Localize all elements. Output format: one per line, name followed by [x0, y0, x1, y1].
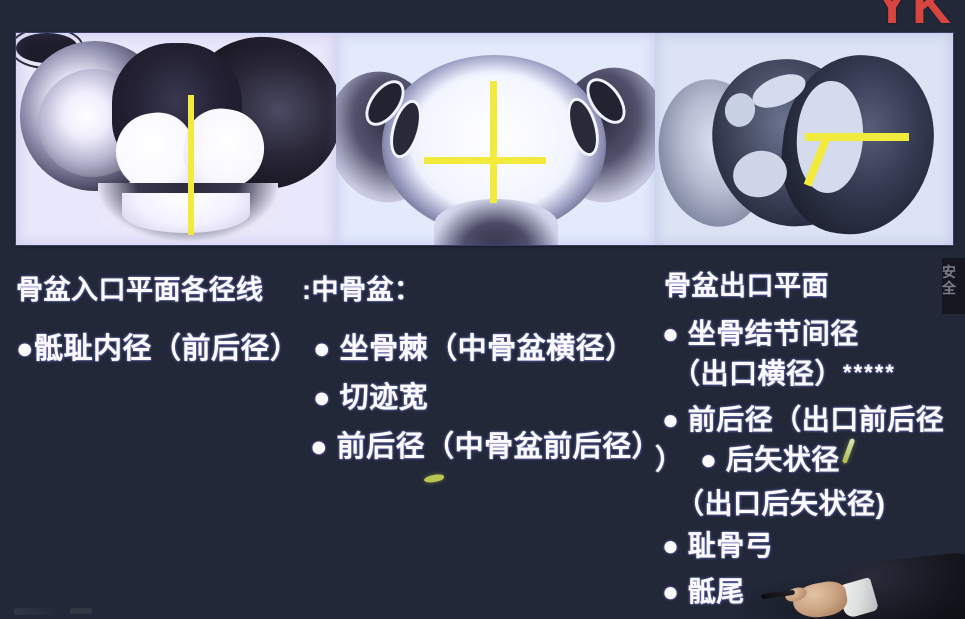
measure-line-transverse — [424, 157, 546, 164]
bottom-left-artifact-secondary — [70, 608, 92, 614]
outlet-item-posterior-sagittal-subtitle: （出口后矢状径) — [676, 482, 885, 522]
presenter-hand-with-pointer — [765, 559, 965, 619]
outlet-item-ap-diameter: ● 前后径（出口前后径 — [662, 398, 944, 438]
pelvic-inlet-radiograph — [16, 33, 336, 245]
outlet-transverse-label: （出口横径） — [672, 358, 843, 389]
outlet-item-intertuberous-diameter: ● 坐骨结节间径 — [662, 312, 859, 352]
midpelvis-item-notch-width: ● 切迹宽 — [313, 374, 428, 416]
slide-image-strip — [16, 33, 953, 245]
measure-line-anteroposterior — [188, 95, 194, 235]
pubic-symphysis — [434, 199, 558, 245]
pelvic-outlet-bones — [655, 33, 953, 245]
bottom-left-artifact — [14, 608, 60, 615]
midpelvis-item-ischial-spine: ● 坐骨棘（中骨盆横径） — [313, 325, 635, 367]
right-edge-overlay: 安全 — [942, 258, 965, 314]
outlet-column-heading: 骨盆出口平面 — [664, 264, 829, 303]
midpelvis-item-ap-diameter: ● 前后径（中骨盆前后径） — [310, 423, 661, 465]
outlet-item-posterior-sagittal: ● 后矢状径 — [700, 438, 840, 478]
channel-logo-watermark: YK — [874, 0, 953, 32]
measure-line-anteroposterior — [490, 81, 497, 203]
mid-pelvis-bones — [336, 33, 655, 245]
pubic-arch-inner — [122, 193, 250, 233]
midpelvis-column-heading: :中骨盆： — [302, 268, 422, 307]
emphasis-stars: ***** — [843, 360, 896, 385]
inlet-column-heading: 骨盆入口平面各径线 — [16, 268, 264, 307]
right-edge-overlay-text: 安全 — [942, 264, 963, 296]
outlet-item-ap-diameter-wrap: ） — [655, 438, 684, 478]
pelvic-inlet-bones — [16, 33, 336, 245]
outlet-item-pubic-arch: ● 耻骨弓 — [662, 524, 773, 564]
outlet-item-transverse-subtitle: （出口横径）***** — [672, 352, 896, 392]
mid-pelvis-radiograph — [336, 33, 655, 245]
video-frame: YK — [0, 0, 965, 619]
inlet-item-sacropubic-diameter: ●骶耻内径（前后径） — [16, 325, 300, 367]
pelvic-outlet-radiograph — [655, 33, 953, 245]
